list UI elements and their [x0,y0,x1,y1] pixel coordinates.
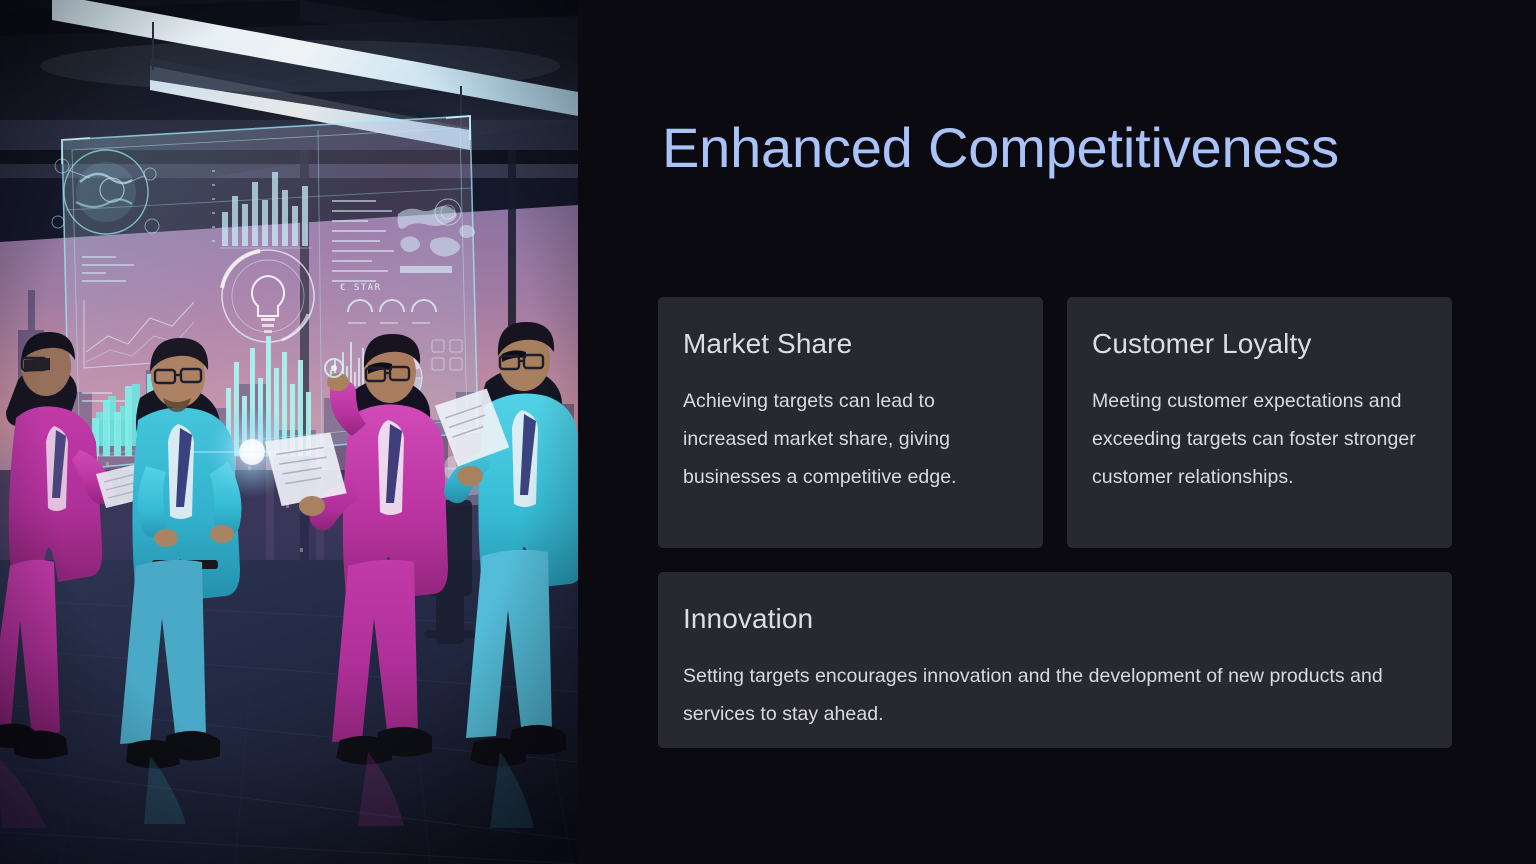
card-body: Achieving targets can lead to increased … [683,382,1018,496]
card-body: Meeting customer expectations and exceed… [1092,382,1427,496]
card-heading: Customer Loyalty [1092,327,1427,361]
card-market-share[interactable]: Market Share Achieving targets can lead … [658,297,1043,548]
cards-top-row: Market Share Achieving targets can lead … [658,297,1453,548]
hero-photo: € STAR [0,0,578,864]
content-panel: Enhanced Competitiveness Market Share Ac… [578,0,1536,864]
page-title: Enhanced Competitiveness [662,117,1502,180]
card-heading: Market Share [683,327,1018,361]
card-heading: Innovation [683,602,1427,636]
slide: € STAR [0,0,1536,864]
card-innovation[interactable]: Innovation Setting targets encourages in… [658,572,1452,748]
office-hologram-illustration: € STAR [0,0,578,864]
card-body: Setting targets encourages innovation an… [683,657,1403,733]
card-customer-loyalty[interactable]: Customer Loyalty Meeting customer expect… [1067,297,1452,548]
cards-container: Market Share Achieving targets can lead … [658,297,1453,748]
